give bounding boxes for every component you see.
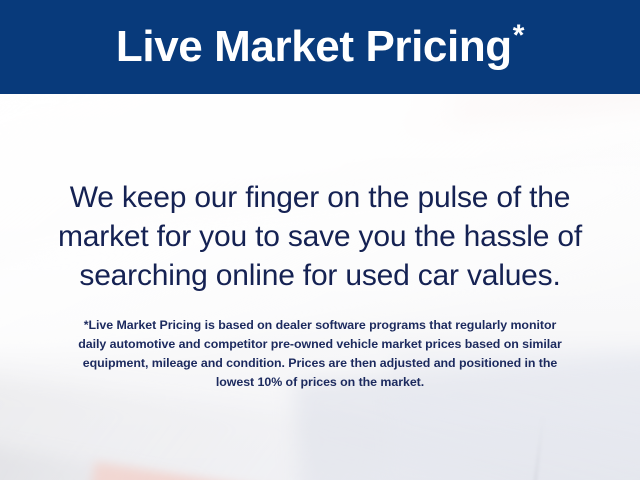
live-market-pricing-banner: Live Market Pricing* We keep our finger …: [0, 0, 640, 480]
disclaimer-line: lowest 10% of prices on the market.: [28, 373, 612, 392]
headline-line: market for you to save you the hassle of: [24, 217, 616, 256]
disclaimer-line: equipment, mileage and condition. Prices…: [28, 354, 612, 373]
disclaimer-text: *Live Market Pricing is based on dealer …: [28, 316, 612, 392]
headline: We keep our finger on the pulse of the m…: [24, 178, 616, 295]
headline-line: searching online for used car values.: [24, 256, 616, 295]
page-title-asterisk: *: [513, 19, 524, 52]
disclaimer-line: daily automotive and competitor pre-owne…: [28, 335, 612, 354]
header-bar: Live Market Pricing*: [0, 0, 640, 94]
content-area: We keep our finger on the pulse of the m…: [0, 94, 640, 480]
headline-line: We keep our finger on the pulse of the: [24, 178, 616, 217]
page-title: Live Market Pricing*: [116, 25, 524, 69]
page-title-text: Live Market Pricing: [116, 22, 512, 71]
disclaimer-line: *Live Market Pricing is based on dealer …: [28, 316, 612, 335]
